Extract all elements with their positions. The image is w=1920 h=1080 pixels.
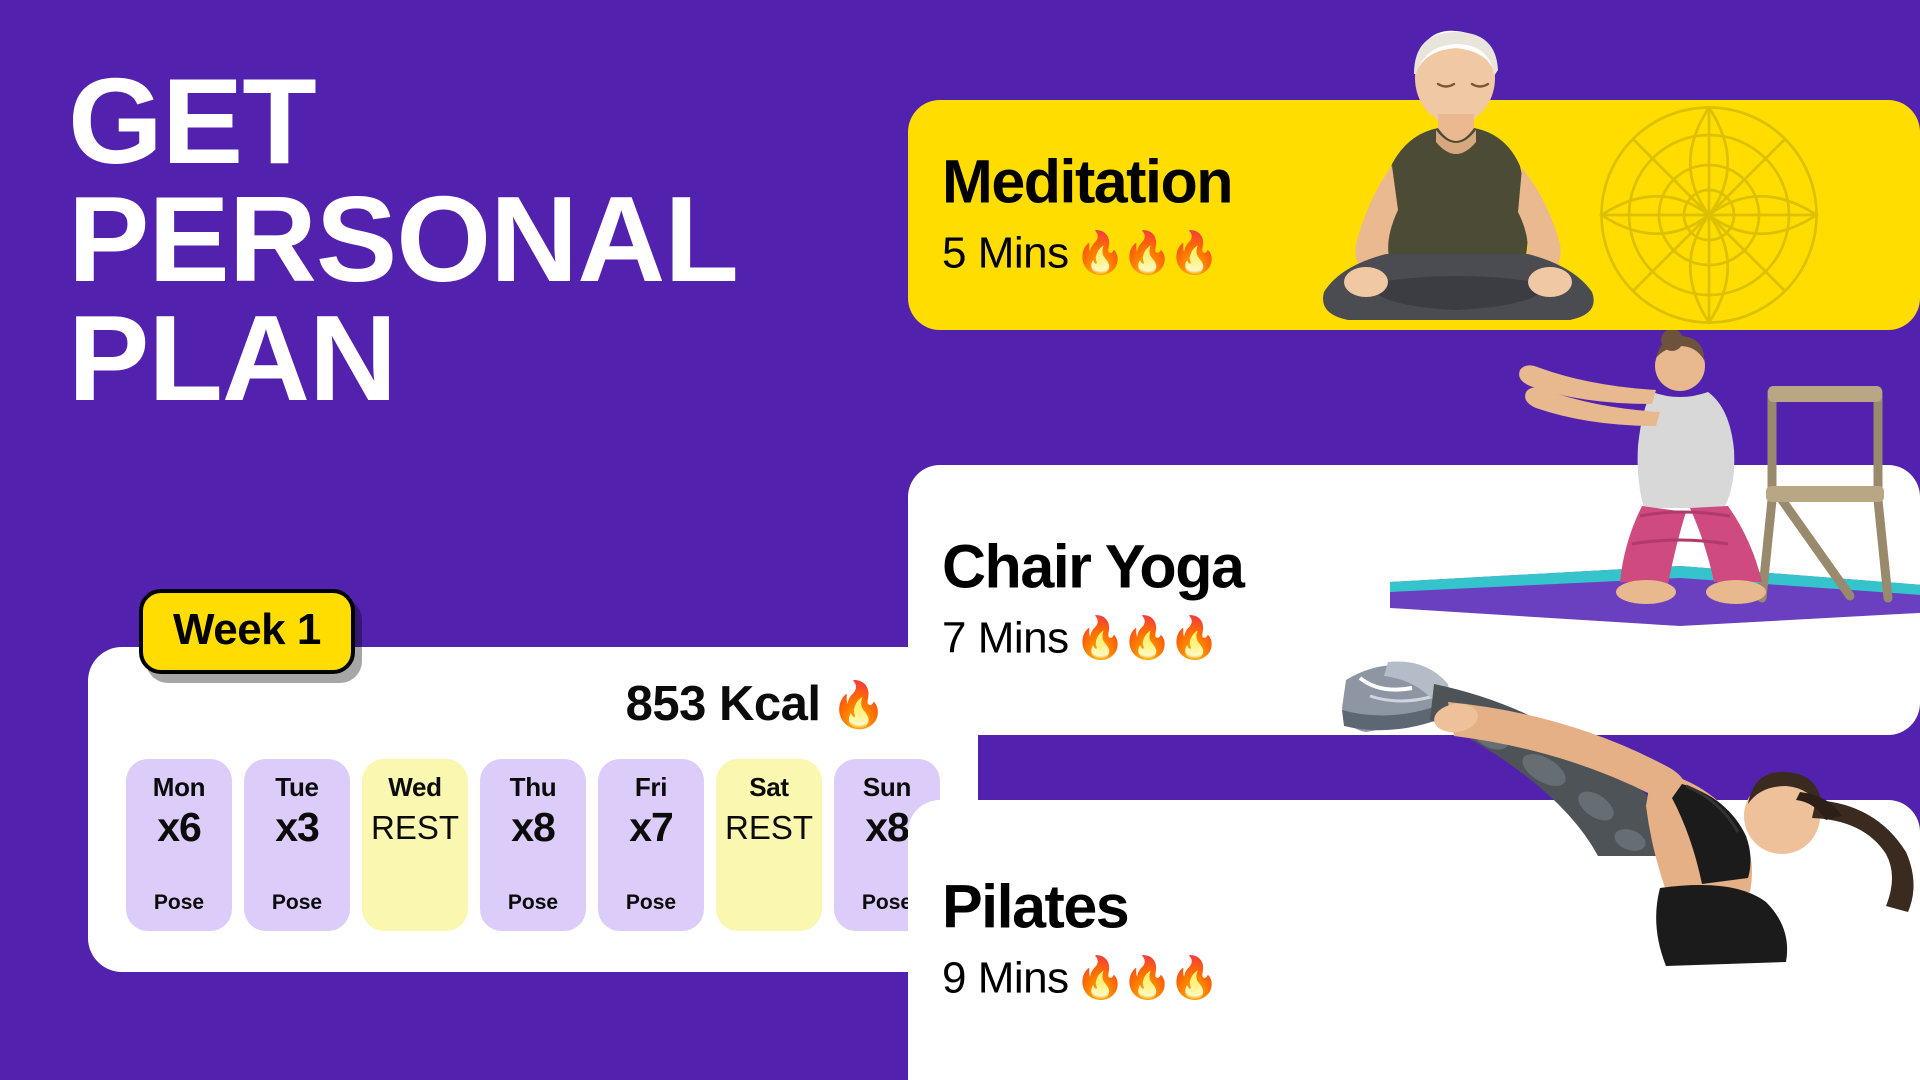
day-name: Wed [388,773,442,802]
intensity-flames-icon: 🔥🔥🔥 [1075,615,1216,663]
day-name: Thu [510,773,557,802]
day-unit: Pose [244,891,350,915]
card-text-block: Pilates 9 Mins 🔥🔥🔥 [942,877,1216,1004]
workout-subtitle: 5 Mins 🔥🔥🔥 [942,229,1232,279]
workout-card-chair-yoga[interactable]: Chair Yoga 7 Mins 🔥🔥🔥 [908,465,1920,735]
day-name: Mon [153,773,206,802]
day-chip-sat[interactable]: Sat REST [716,759,822,931]
day-chip-fri[interactable]: Fri x7 Pose [598,759,704,931]
day-unit: Pose [480,891,586,915]
headline-line-3: PLAN [68,299,888,417]
workout-card-meditation[interactable]: Meditation 5 Mins 🔥🔥🔥 [908,100,1920,330]
workout-subtitle: 9 Mins 🔥🔥🔥 [942,954,1216,1004]
workout-duration: 5 Mins [942,229,1069,279]
intensity-flames-icon: 🔥🔥🔥 [1075,230,1216,278]
day-value: x3 [275,806,319,849]
workout-card-pilates[interactable]: Pilates 9 Mins 🔥🔥🔥 [908,800,1920,1080]
intensity-flames-icon: 🔥🔥🔥 [1075,955,1216,1003]
day-chip-tue[interactable]: Tue x3 Pose [244,759,350,931]
mandala-decoration-icon [1584,100,1834,330]
day-chip-mon[interactable]: Mon x6 Pose [126,759,232,931]
fire-icon: 🔥 [830,678,886,731]
workout-duration: 9 Mins [942,954,1069,1004]
day-name: Fri [635,773,667,802]
day-unit: Pose [126,891,232,915]
headline-line-2: PERSONAL [68,180,888,298]
day-value: x6 [157,806,201,849]
day-name: Sun [863,773,911,802]
card-text-block: Meditation 5 Mins 🔥🔥🔥 [942,152,1232,279]
day-name: Sat [749,773,789,802]
day-value: x7 [629,806,673,849]
headline-line-1: GET [68,62,888,180]
day-unit: Pose [598,891,704,915]
calorie-value: 853 Kcal [626,676,821,732]
day-value: x8 [865,806,909,849]
workout-duration: 7 Mins [942,614,1069,664]
workout-title: Meditation [942,152,1232,213]
day-value: REST [725,811,813,846]
page-title: GET PERSONAL PLAN [68,62,888,417]
day-value: REST [371,811,459,846]
card-surface: Chair Yoga 7 Mins 🔥🔥🔥 [908,465,1920,735]
workout-title: Pilates [942,877,1216,938]
weekday-chip-row: Mon x6 Pose Tue x3 Pose Wed REST Thu x8 … [126,759,940,931]
card-text-block: Chair Yoga 7 Mins 🔥🔥🔥 [942,537,1243,664]
day-name: Tue [275,773,318,802]
day-chip-wed[interactable]: Wed REST [362,759,468,931]
week-plan-card: 853 Kcal 🔥 Mon x6 Pose Tue x3 Pose Wed R… [88,647,978,972]
card-surface: Pilates 9 Mins 🔥🔥🔥 [908,800,1920,1080]
workout-subtitle: 7 Mins 🔥🔥🔥 [942,614,1243,664]
workout-title: Chair Yoga [942,537,1243,598]
day-value: x8 [511,806,555,849]
calorie-summary: 853 Kcal 🔥 [626,676,886,732]
week-badge[interactable]: Week 1 [139,589,355,674]
card-surface: Meditation 5 Mins 🔥🔥🔥 [908,100,1920,330]
day-chip-thu[interactable]: Thu x8 Pose [480,759,586,931]
